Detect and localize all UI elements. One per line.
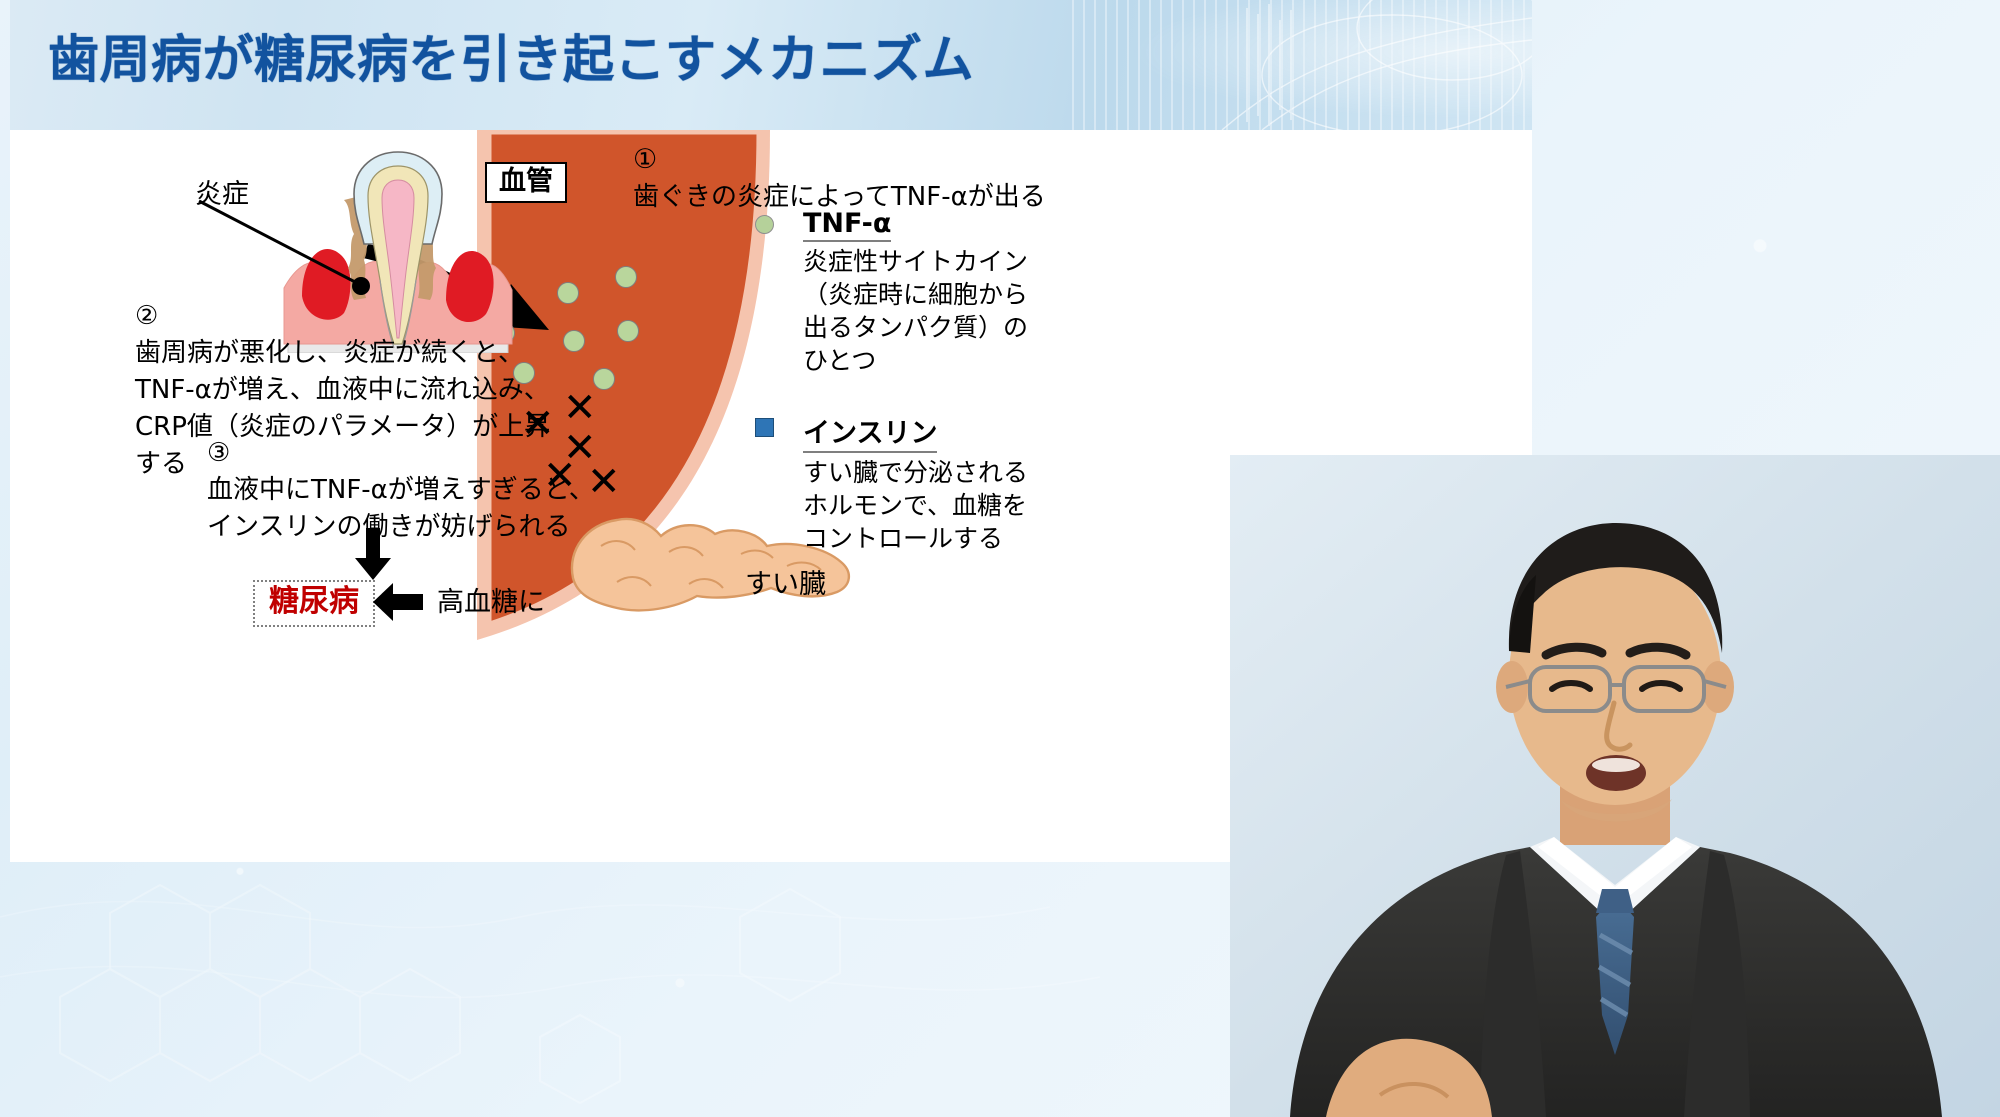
- green-circle-marker-icon: [755, 215, 774, 234]
- high-blood-sugar-label: 高血糖に: [437, 580, 545, 619]
- presenter-figure: [1230, 455, 2000, 1117]
- blood-vessel-label: 血管: [485, 162, 567, 203]
- legend-desc-tnf: 炎症性サイトカイン （炎症時に細胞から 出るタンパク質）の ひとつ: [803, 245, 1085, 377]
- legend-desc-insulin: すい臓で分泌される ホルモンで、血糖を コントロールする: [803, 456, 1085, 555]
- legend-item-tnf: TNF-α 炎症性サイトカイン （炎症時に細胞から 出るタンパク質）の ひとつ: [755, 208, 1085, 377]
- blue-square-marker-icon: [755, 418, 774, 437]
- legend-desc-line: （炎症時に細胞から: [803, 278, 1085, 311]
- left-arrow-icon: [373, 582, 423, 622]
- step-2-line: TNF-αが増え、血液中に流れ込み、: [135, 372, 605, 409]
- legend-desc-line: ひとつ: [803, 344, 1085, 377]
- step-3-line: インスリンの働きが妨げられる: [207, 509, 627, 546]
- step-1-number: ①: [633, 140, 1083, 179]
- legend-term-tnf: TNF-α: [803, 208, 891, 242]
- legend-desc-line: 出るタンパク質）の: [803, 311, 1085, 344]
- legend-desc-line: 炎症性サイトカイン: [803, 245, 1085, 278]
- step-2-number: ②: [135, 298, 605, 335]
- step-3-line: 血液中にTNF-αが増えすぎると、: [207, 472, 627, 509]
- tnf-particle: [615, 266, 637, 288]
- legend-desc-line: すい臓で分泌される: [803, 456, 1085, 489]
- inflammation-label: 炎症: [195, 172, 249, 211]
- step-3-number: ③: [207, 435, 627, 472]
- legend-desc-line: ホルモンで、血糖を: [803, 489, 1085, 522]
- page-title: 歯周病が糖尿病を引き起こすメカニズム: [48, 18, 974, 92]
- legend-desc-line: コントロールする: [803, 522, 1085, 555]
- slide-title-bar: 歯周病が糖尿病を引き起こすメカニズム: [10, 0, 1532, 130]
- mechanism-diagram: ✕ ✕ ✕ ✕ ✕: [125, 130, 1393, 785]
- diabetes-result-box: 糖尿病: [253, 580, 375, 627]
- step-3-block: ③ 血液中にTNF-αが増えすぎると、 インスリンの働きが妨げられる: [207, 435, 627, 546]
- slide-stage: 歯周病が糖尿病を引き起こすメカニズム: [0, 0, 2000, 1117]
- step-2-line: 歯周病が悪化し、炎症が続くと、: [135, 335, 605, 372]
- title-bar-decoration: [1062, 0, 1532, 130]
- down-arrow-icon: [353, 528, 393, 580]
- legend: TNF-α 炎症性サイトカイン （炎症時に細胞から 出るタンパク質）の ひとつ …: [755, 208, 1085, 577]
- legend-item-insulin: インスリン すい臓で分泌される ホルモンで、血糖を コントロールする: [755, 411, 1085, 555]
- legend-term-insulin: インスリン: [803, 411, 937, 453]
- step-1-block: ① 歯ぐきの炎症によってTNF-αが出る: [633, 140, 1083, 217]
- tnf-particle: [617, 320, 639, 342]
- presenter-video: [1230, 455, 2000, 1117]
